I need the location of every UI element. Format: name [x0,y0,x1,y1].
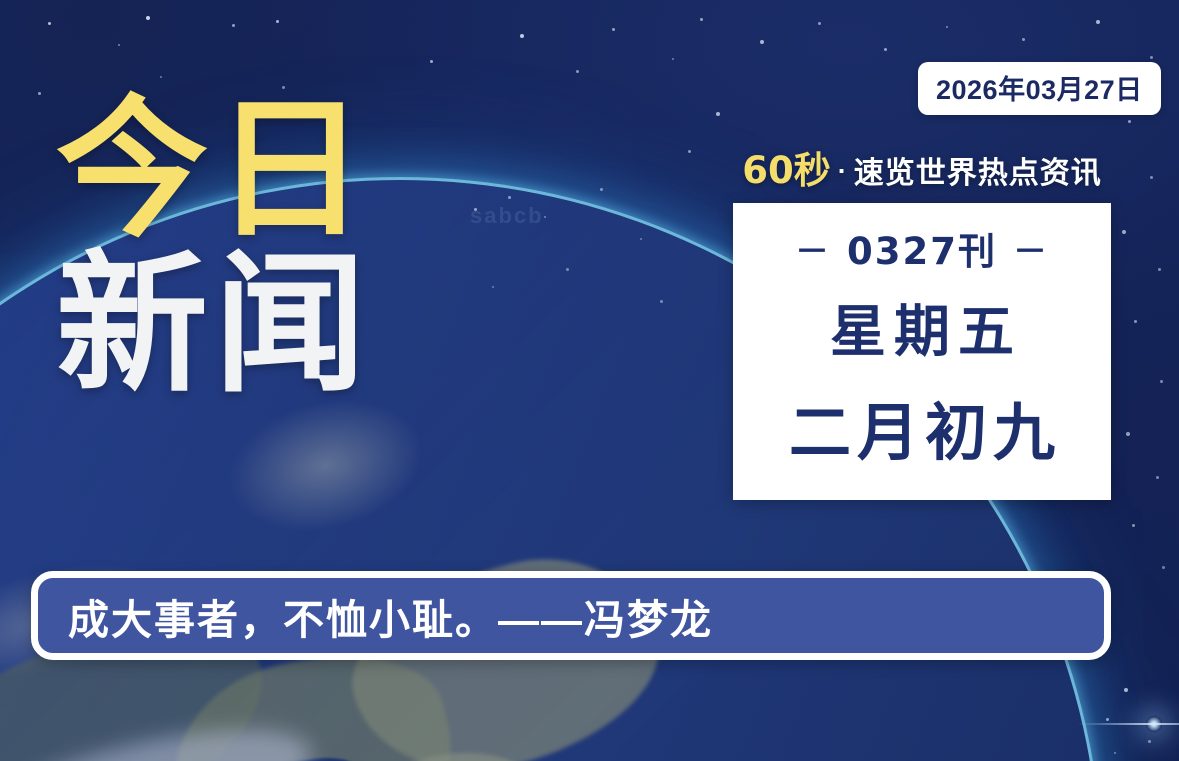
page-title-line-1: 今日 [56,96,372,245]
tagline-seconds: 60秒 [742,140,831,194]
quote-text: 成大事者，不恤小耻。——冯梦龙 [38,586,713,646]
date-badge: 2026年03月27日 [918,62,1161,115]
dash-right-decoration: － [1013,224,1049,273]
poster-canvas: sabcb 今日 新闻 2026年03月27日 60秒 · 速览世界热点资讯 －… [0,0,1179,761]
issue-number: 0327刊 [847,221,997,275]
dash-left-decoration: － [795,224,831,273]
poster-title: 今日 新闻 [56,96,372,400]
weekday-label: 星期五 [822,287,1022,368]
issue-info-card: － 0327刊 － 星期五 二月初九 [733,203,1111,500]
quote-bar: 成大事者，不恤小耻。——冯梦龙 [31,571,1111,660]
lunar-date-label: 二月初九 [783,382,1061,472]
issue-number-row: － 0327刊 － [795,221,1049,275]
right-info-panel: 60秒 · 速览世界热点资讯 － 0327刊 － 星期五 二月初九 [733,140,1111,500]
watermark-text: sabcb [470,203,544,229]
tagline: 60秒 · 速览世界热点资讯 [733,140,1111,194]
tagline-separator-dot: · [835,156,850,187]
page-title-line-2: 新闻 [56,251,372,400]
tagline-rest: 速览世界热点资讯 [854,148,1102,192]
